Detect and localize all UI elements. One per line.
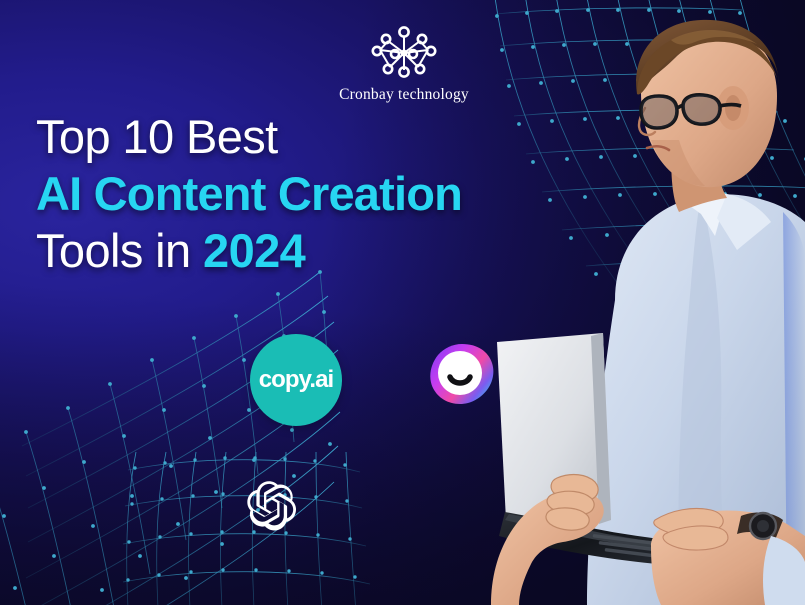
headline-year-accent: 2024 (203, 224, 305, 277)
jasper-ai-logo-icon[interactable] (427, 341, 497, 407)
network-node-star-icon (366, 24, 442, 82)
man-with-laptop-photo (465, 0, 805, 605)
openai-logo-icon[interactable] (247, 479, 300, 532)
copyai-logo-icon[interactable]: copy.ai (250, 334, 342, 426)
headline-line-3-prefix: Tools in (36, 224, 203, 277)
brand-logo[interactable]: Cronbay technology (330, 24, 478, 104)
headline-line-2: AI Content Creation (36, 169, 556, 220)
copyai-label: copy.ai (259, 366, 334, 394)
promo-banner: Cronbay technology Top 10 Best AI Conten… (0, 0, 805, 605)
headline-line-3: Tools in 2024 (36, 226, 556, 277)
headline-line-1: Top 10 Best (36, 112, 556, 163)
brand-name: Cronbay technology (330, 86, 478, 104)
curved-wireframe-mesh-left-icon (0, 268, 388, 605)
page-title: Top 10 Best AI Content Creation Tools in… (36, 112, 556, 276)
